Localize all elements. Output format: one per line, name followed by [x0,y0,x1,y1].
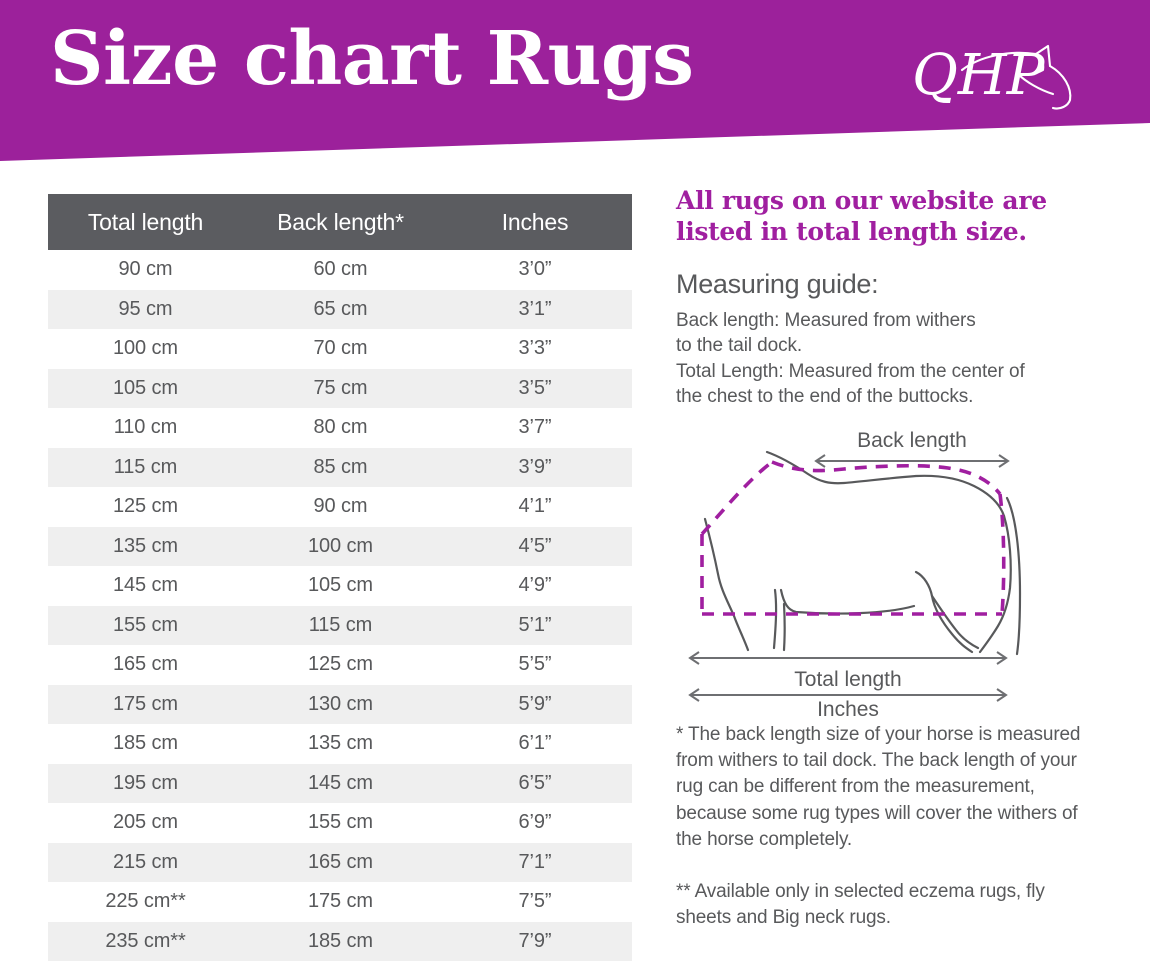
cell-total-length: 145 cm [48,566,243,606]
cell-back-length: 105 cm [243,566,438,606]
cell-back-length: 130 cm [243,685,438,725]
cell-total-length: 105 cm [48,369,243,409]
cell-back-length: 125 cm [243,645,438,685]
table-row: 145 cm105 cm4’9” [48,566,632,606]
cell-back-length: 165 cm [243,843,438,883]
cell-back-length: 85 cm [243,448,438,488]
info-headline: All rugs on our website are listed in to… [676,186,1106,247]
cell-total-length: 215 cm [48,843,243,883]
cell-total-length: 135 cm [48,527,243,567]
cell-back-length: 175 cm [243,882,438,922]
footnote-back-length: * The back length size of your horse is … [676,722,1101,853]
cell-back-length: 155 cm [243,803,438,843]
page-title: Size chart Rugs [50,22,693,96]
cell-inches: 4’5” [438,527,632,567]
table-row: 105 cm75 cm3’5” [48,369,632,409]
back-length-label: Back length [857,429,967,452]
cell-back-length: 80 cm [243,408,438,448]
column-header-inches: Inches [438,194,632,250]
table-row: 125 cm90 cm4’1” [48,487,632,527]
cell-inches: 5’9” [438,685,632,725]
cell-inches: 5’1” [438,606,632,646]
horse-outline [705,452,1020,654]
table-row: 205 cm155 cm6’9” [48,803,632,843]
table-row: 225 cm**175 cm7’5” [48,882,632,922]
cell-inches: 3’5” [438,369,632,409]
size-chart-page: Size chart Rugs QHP Total length [0,0,1150,978]
info-panel: All rugs on our website are listed in to… [676,186,1106,410]
footnote-availability: ** Available only in selected eczema rug… [676,879,1101,931]
table-row: 110 cm80 cm3’7” [48,408,632,448]
cell-inches: 7’5” [438,882,632,922]
cell-inches: 7’1” [438,843,632,883]
total-length-label: Total length [794,668,901,691]
footnotes: * The back length size of your horse is … [676,722,1101,932]
back-length-arrow [816,455,1008,467]
cell-total-length: 100 cm [48,329,243,369]
table-row: 90 cm60 cm3’0” [48,250,632,290]
rug-outline [702,462,1004,614]
cell-back-length: 65 cm [243,290,438,330]
table-row: 165 cm125 cm5’5” [48,645,632,685]
cell-inches: 6’5” [438,764,632,804]
column-header-total-length: Total length [48,194,243,250]
cell-back-length: 90 cm [243,487,438,527]
measuring-guide-title: Measuring guide: [676,269,1106,300]
column-header-back-length: Back length* [243,194,438,250]
cell-total-length: 195 cm [48,764,243,804]
cell-inches: 3’3” [438,329,632,369]
inches-label: Inches [817,698,879,716]
measuring-guide-body: Back length: Measured from withers to th… [676,308,1106,410]
table-header-row: Total length Back length* Inches [48,194,632,250]
header-banner: Size chart Rugs QHP [0,0,1150,165]
table-body: 90 cm60 cm3’0” 95 cm65 cm3’1” 100 cm70 c… [48,250,632,961]
horse-diagram-svg: Back length [676,424,1096,716]
cell-total-length: 205 cm [48,803,243,843]
total-length-arrow [690,652,1006,664]
table-row: 195 cm145 cm6’5” [48,764,632,804]
qhp-logo: QHP [910,32,1110,118]
table-row: 115 cm85 cm3’9” [48,448,632,488]
cell-inches: 6’9” [438,803,632,843]
cell-inches: 3’0” [438,250,632,290]
cell-inches: 5’5” [438,645,632,685]
table-row: 175 cm130 cm5’9” [48,685,632,725]
cell-total-length: 155 cm [48,606,243,646]
cell-back-length: 115 cm [243,606,438,646]
cell-inches: 7’9” [438,922,632,962]
cell-total-length: 165 cm [48,645,243,685]
cell-total-length: 185 cm [48,724,243,764]
cell-total-length: 235 cm** [48,922,243,962]
table-row: 185 cm135 cm6’1” [48,724,632,764]
cell-inches: 6’1” [438,724,632,764]
cell-inches: 3’1” [438,290,632,330]
cell-back-length: 145 cm [243,764,438,804]
cell-inches: 3’7” [438,408,632,448]
cell-total-length: 125 cm [48,487,243,527]
table-row: 215 cm165 cm7’1” [48,843,632,883]
table-row: 135 cm100 cm4’5” [48,527,632,567]
cell-back-length: 185 cm [243,922,438,962]
cell-total-length: 95 cm [48,290,243,330]
cell-back-length: 60 cm [243,250,438,290]
cell-back-length: 135 cm [243,724,438,764]
cell-total-length: 110 cm [48,408,243,448]
cell-inches: 4’1” [438,487,632,527]
cell-total-length: 225 cm** [48,882,243,922]
cell-inches: 4’9” [438,566,632,606]
cell-total-length: 90 cm [48,250,243,290]
table-row: 95 cm65 cm3’1” [48,290,632,330]
cell-back-length: 75 cm [243,369,438,409]
horse-measuring-diagram: Back length [676,424,1096,716]
cell-back-length: 70 cm [243,329,438,369]
table-row: 235 cm**185 cm7’9” [48,922,632,962]
cell-inches: 3’9” [438,448,632,488]
table-row: 155 cm115 cm5’1” [48,606,632,646]
cell-back-length: 100 cm [243,527,438,567]
cell-total-length: 175 cm [48,685,243,725]
cell-total-length: 115 cm [48,448,243,488]
size-chart-table: Total length Back length* Inches 90 cm60… [48,194,632,961]
table-row: 100 cm70 cm3’3” [48,329,632,369]
qhp-logo-svg: QHP [910,32,1110,118]
